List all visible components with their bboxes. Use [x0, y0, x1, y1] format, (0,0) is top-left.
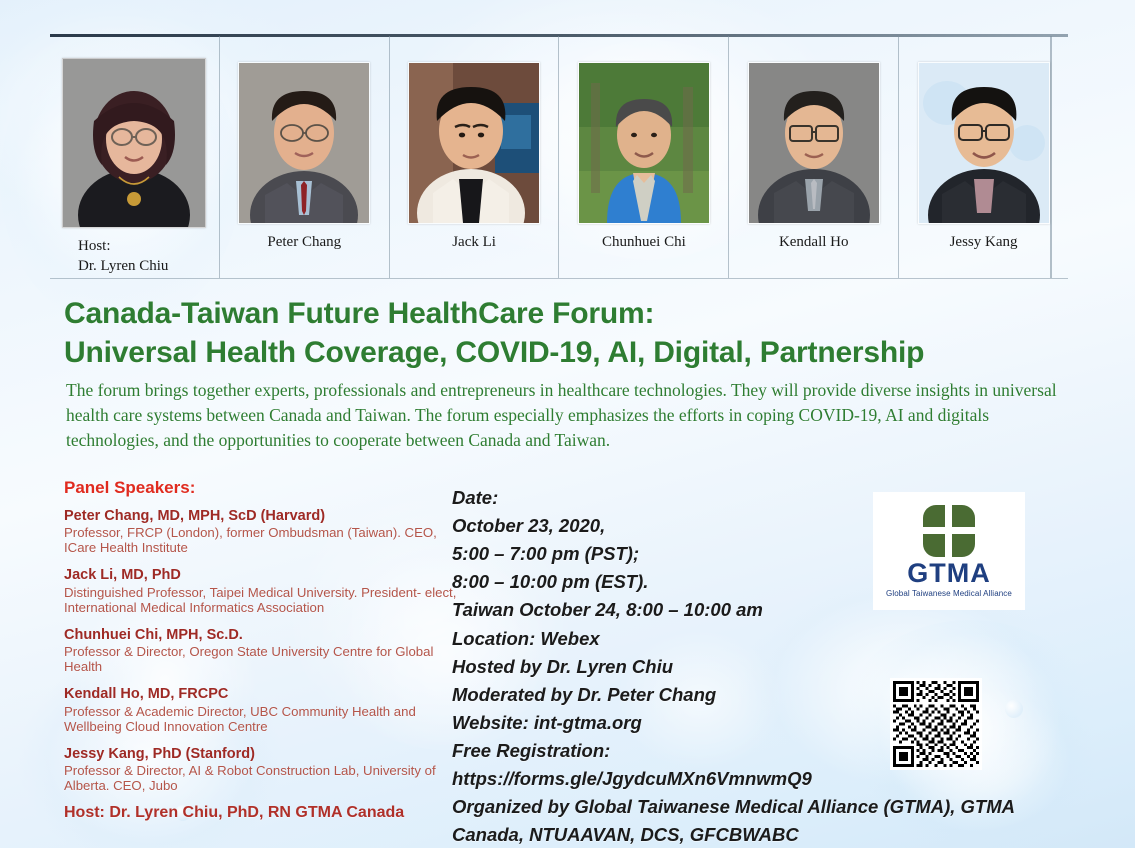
- detail-location: Location: Webex: [452, 625, 1052, 653]
- portrait-chunhuei-chi: [578, 62, 710, 224]
- speaker-photo-cell: Host: Dr. Lyren Chiu: [50, 36, 220, 278]
- caption-line-1: Host:: [78, 236, 168, 256]
- host-line: Host: Dr. Lyren Chiu, PhD, RN GTMA Canad…: [64, 804, 464, 822]
- speaker-affiliation: Distinguished Professor, Taipei Medical …: [64, 585, 464, 615]
- speaker-affiliation: Professor, FRCP (London), former Ombudsm…: [64, 525, 464, 555]
- speaker-affiliation: Professor & Director, Oregon State Unive…: [64, 644, 464, 674]
- speaker-entry: Kendall Ho, MD, FRCPC Professor & Academ…: [64, 685, 464, 733]
- speaker-photo-cell: Chunhuei Chi: [559, 36, 729, 278]
- detail-organizers-line-2: Canada, NTUAAVAN, DCS, GFCBWABC: [452, 821, 1052, 848]
- speaker-name: Jessy Kang, PhD (Stanford): [64, 745, 464, 763]
- speaker-affiliation: Professor & Academic Director, UBC Commu…: [64, 704, 464, 734]
- gtma-tagline: Global Taiwanese Medical Alliance: [886, 589, 1012, 598]
- gtma-logo: GTMA Global Taiwanese Medical Alliance: [873, 492, 1025, 610]
- title-line-2: Universal Health Coverage, COVID-19, AI,…: [64, 333, 1114, 372]
- detail-host: Hosted by Dr. Lyren Chiu: [452, 653, 1052, 681]
- detail-organizers-line-1: Organized by Global Taiwanese Medical Al…: [452, 793, 1052, 821]
- event-poster: Host: Dr. Lyren Chiu: [0, 0, 1135, 848]
- portrait-kendall-ho: [748, 62, 880, 224]
- speaker-caption: Peter Chang: [267, 232, 341, 252]
- panel-speakers-heading: Panel Speakers:: [64, 478, 464, 498]
- speaker-affiliation: Professor & Director, AI & Robot Constru…: [64, 763, 464, 793]
- speaker-name: Jack Li, MD, PhD: [64, 566, 464, 584]
- speaker-photo-cell: Kendall Ho: [729, 36, 899, 278]
- speaker-caption: Host: Dr. Lyren Chiu: [78, 236, 168, 277]
- portrait-peter-chang: [238, 62, 370, 224]
- page-title: Canada-Taiwan Future HealthCare Forum: U…: [64, 294, 1114, 372]
- speaker-caption: Jack Li: [452, 232, 496, 252]
- intro-paragraph: The forum brings together experts, profe…: [66, 378, 1066, 453]
- portrait-jessy-kang: [918, 62, 1050, 224]
- speaker-photo-cell: Jack Li: [390, 36, 560, 278]
- speaker-caption: Jessy Kang: [950, 232, 1018, 252]
- title-line-1: Canada-Taiwan Future HealthCare Forum:: [64, 297, 654, 330]
- gtma-cross-icon: [923, 505, 975, 557]
- panel-speakers-section: Panel Speakers: Peter Chang, MD, MPH, Sc…: [64, 478, 464, 822]
- speaker-name: Kendall Ho, MD, FRCPC: [64, 685, 464, 703]
- portrait-jack-li: [408, 62, 540, 224]
- speaker-caption: Kendall Ho: [779, 232, 849, 252]
- speaker-photo-cell: Jessy Kang: [899, 36, 1068, 278]
- speaker-entry: Jessy Kang, PhD (Stanford) Professor & D…: [64, 745, 464, 793]
- portrait-lyren-chiu: [62, 58, 206, 228]
- speaker-caption: Chunhuei Chi: [602, 232, 686, 252]
- speaker-entry: Peter Chang, MD, MPH, ScD (Harvard) Prof…: [64, 507, 464, 555]
- registration-qr-code[interactable]: [890, 678, 982, 770]
- caption-line-2: Dr. Lyren Chiu: [78, 256, 168, 276]
- speaker-name: Chunhuei Chi, MPH, Sc.D.: [64, 626, 464, 644]
- speaker-entry: Jack Li, MD, PhD Distinguished Professor…: [64, 566, 464, 614]
- gtma-wordmark: GTMA: [907, 560, 990, 587]
- speaker-photo-cell: Peter Chang: [220, 36, 390, 278]
- speaker-entry: Chunhuei Chi, MPH, Sc.D. Professor & Dir…: [64, 626, 464, 674]
- speaker-photo-row: Host: Dr. Lyren Chiu: [50, 36, 1068, 278]
- photo-grid-bottom-rule: [50, 278, 1068, 279]
- speaker-name: Peter Chang, MD, MPH, ScD (Harvard): [64, 507, 464, 525]
